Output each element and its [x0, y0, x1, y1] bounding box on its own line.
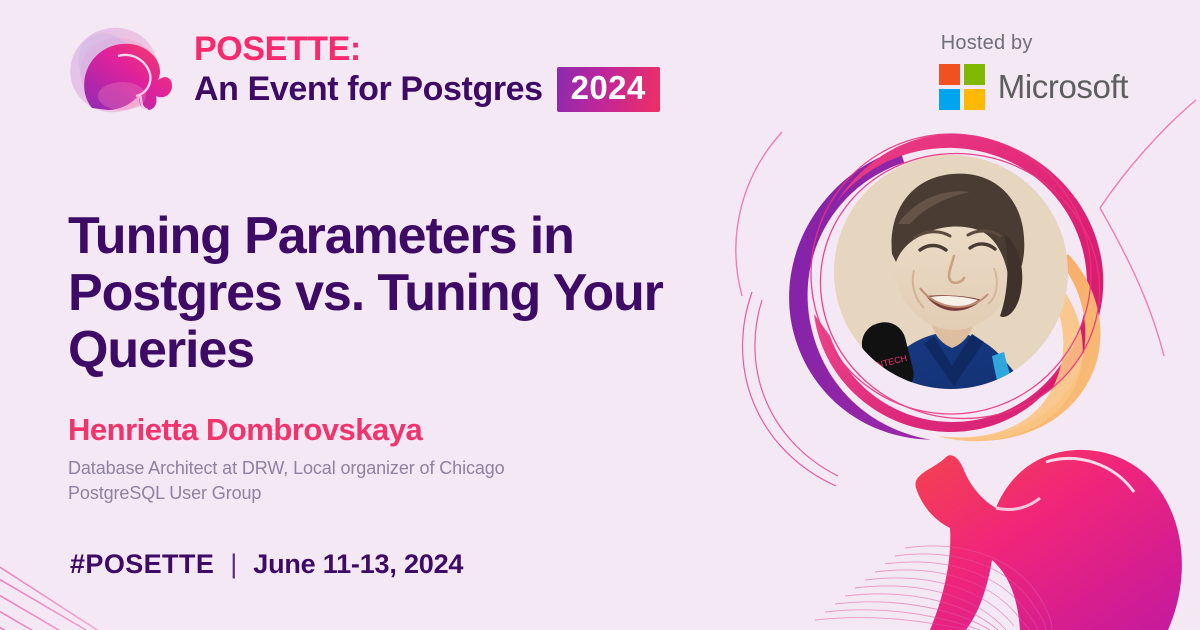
speaker-bio: Database Architect at DRW, Local organiz…	[68, 456, 568, 506]
footer-separator: |	[230, 549, 237, 580]
posette-elephant-logo-icon	[62, 22, 180, 122]
portrait-photo: CONTECH DRW	[834, 155, 1068, 418]
year-badge: 2024	[557, 67, 660, 112]
brand-line-2: An Event for Postgres	[194, 70, 543, 108]
hosted-by-block: Hosted by Microsoft	[939, 32, 1128, 110]
hosted-by-label: Hosted by	[939, 32, 1128, 55]
ms-square-orange	[939, 64, 960, 85]
shirt-brand-label: DRW	[951, 387, 990, 404]
pink-elephant-silhouette-icon	[915, 450, 1181, 630]
page-title: Tuning Parameters in Postgres vs. Tuning…	[68, 208, 718, 380]
thin-curve-lines-icon	[815, 546, 1052, 630]
speaker-name: Henrietta Dombrovskaya	[68, 412, 422, 448]
event-hashtag: #POSETTE	[70, 549, 214, 580]
footer-bar: #POSETTE | June 11-13, 2024	[70, 549, 463, 580]
ms-square-green	[964, 64, 985, 85]
speaker-portrait-graphic: CONTECH DRW	[738, 104, 1158, 444]
brand-header: POSETTE: An Event for Postgres 2024	[62, 22, 660, 122]
event-dates: June 11-13, 2024	[253, 549, 463, 580]
microsoft-wordmark: Microsoft	[998, 68, 1128, 106]
speaker-portrait: CONTECH DRW	[738, 104, 1158, 444]
brand-line-1: POSETTE:	[194, 32, 660, 67]
event-promo-card: POSETTE: An Event for Postgres 2024 Host…	[0, 0, 1200, 630]
brand-wordmark: POSETTE: An Event for Postgres 2024	[194, 32, 660, 111]
